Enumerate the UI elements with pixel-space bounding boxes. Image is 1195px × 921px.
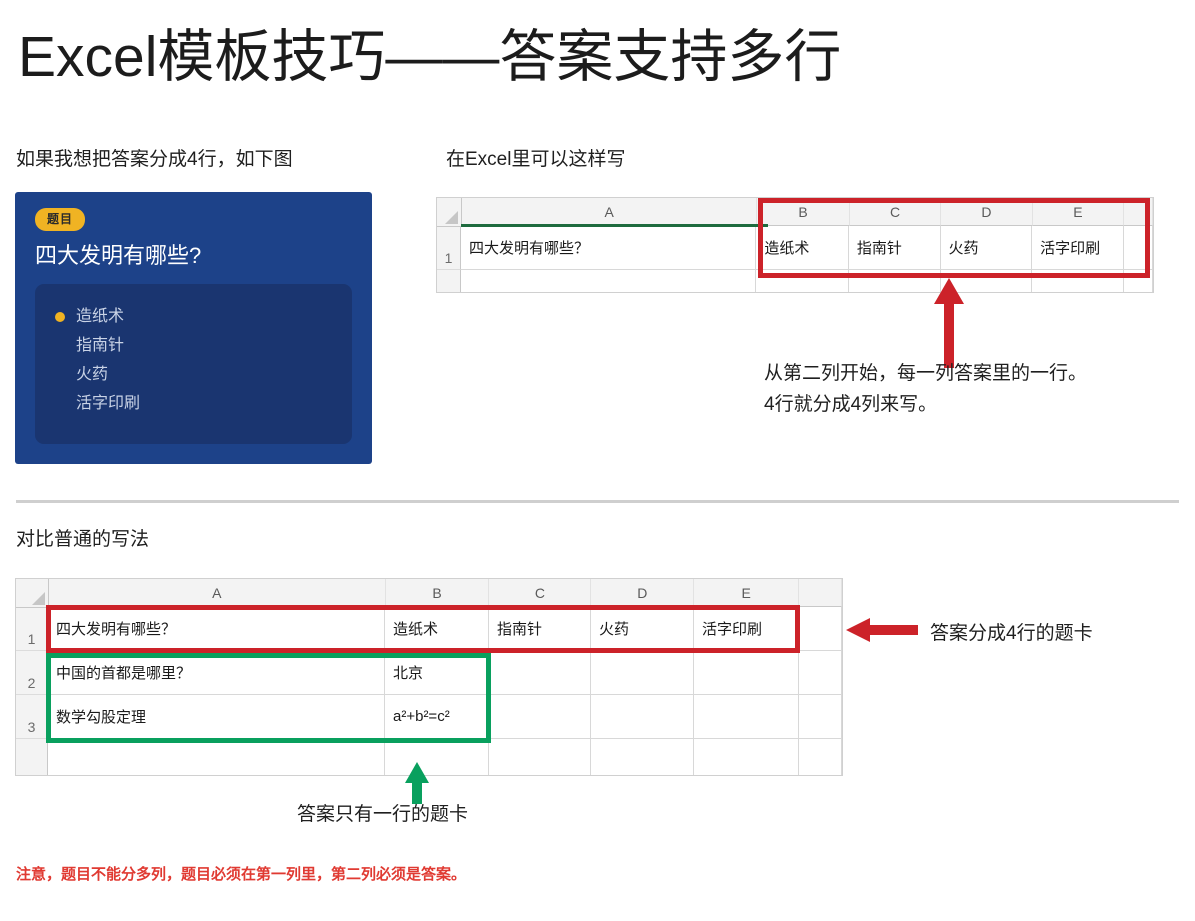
cell-f1[interactable] (799, 607, 842, 651)
cell-e1[interactable]: 活字印刷 (694, 607, 799, 651)
cell-b2[interactable]: 北京 (385, 651, 489, 695)
answer-item-1: 造纸术 (55, 302, 332, 331)
answer-label: 造纸术 (76, 302, 124, 331)
select-all-corner[interactable] (437, 198, 462, 227)
answer-label: 火药 (76, 360, 108, 389)
column-header-b[interactable]: B (757, 198, 849, 226)
cell-a2[interactable] (461, 270, 756, 293)
cell-d3[interactable] (591, 695, 694, 739)
right-section-caption: 在Excel里可以这样写 (446, 147, 625, 173)
cell-d1[interactable]: 火药 (591, 607, 694, 651)
column-header-e[interactable]: E (1033, 198, 1124, 226)
annotation-singlerow-card: 答案只有一行的题卡 (297, 799, 468, 830)
table-row[interactable]: 1 四大发明有哪些？ 造纸术 指南针 火药 活字印刷 (16, 607, 842, 651)
answer-label: 活字印刷 (76, 389, 140, 418)
cell-c4[interactable] (489, 739, 591, 776)
excel-sheet-multirow[interactable]: A B C D E 1 四大发明有哪些？ 造纸术 指南针 火药 活字印刷 2 (436, 197, 1154, 293)
cell-b3[interactable]: a²+b²=c² (385, 695, 489, 739)
table-row[interactable]: 2 (437, 270, 1153, 293)
row-header-3[interactable]: 3 (16, 695, 48, 739)
cell-f4[interactable] (799, 739, 842, 776)
column-header-b[interactable]: B (386, 579, 490, 607)
column-header-e[interactable]: E (694, 579, 799, 607)
row-header-1[interactable]: 1 (16, 607, 48, 651)
cell-e2[interactable] (1032, 270, 1124, 293)
answer-label: 指南针 (76, 331, 124, 360)
answer-item-2: 指南针 (55, 331, 332, 360)
left-section-caption: 如果我想把答案分成4行，如下图 (16, 147, 293, 173)
cell-c3[interactable] (489, 695, 591, 739)
column-header-f[interactable] (1124, 198, 1153, 226)
cell-d1[interactable]: 火药 (941, 226, 1033, 270)
table-row[interactable]: 3 数学勾股定理 a²+b²=c² (16, 695, 842, 739)
cell-c1[interactable]: 指南针 (489, 607, 591, 651)
cell-a1[interactable]: 四大发明有哪些？ (461, 226, 756, 270)
cell-e1[interactable]: 活字印刷 (1032, 226, 1124, 270)
column-header-a[interactable]: A (462, 198, 757, 226)
red-arrow-left-icon (846, 617, 918, 643)
cell-e4[interactable] (694, 739, 799, 776)
cell-d2[interactable] (591, 651, 694, 695)
cell-f2[interactable] (799, 651, 842, 695)
column-header-f[interactable] (799, 579, 842, 607)
cell-d4[interactable] (591, 739, 694, 776)
question-badge: 题目 (35, 208, 85, 231)
row-header-2[interactable]: 2 (16, 651, 48, 695)
cell-c1[interactable]: 指南针 (849, 226, 941, 270)
cell-b4[interactable] (385, 739, 489, 776)
answer-item-4: 活字印刷 (55, 389, 332, 418)
cell-c2[interactable] (849, 270, 941, 293)
cell-a3[interactable]: 数学勾股定理 (48, 695, 385, 739)
excel-column-header-row: A B C D E (437, 198, 1153, 226)
cell-f1[interactable] (1124, 226, 1153, 270)
annotation-multirow-card: 答案分成4行的题卡 (930, 618, 1093, 649)
column-header-d[interactable]: D (591, 579, 694, 607)
cell-f3[interactable] (799, 695, 842, 739)
red-arrow-up-icon (932, 278, 966, 368)
cell-a4[interactable] (48, 739, 385, 776)
compare-section-caption: 对比普通的写法 (16, 527, 149, 553)
quiz-answer-panel: 造纸术 指南针 火药 活字印刷 (35, 284, 352, 444)
cell-b2[interactable] (756, 270, 849, 293)
warning-text: 注意，题目不能分多列，题目必须在第一列里，第二列必须是答案。 (16, 863, 466, 884)
quiz-question-text: 四大发明有哪些? (35, 241, 352, 271)
excel-column-header-row: A B C D E (16, 579, 842, 607)
select-all-corner[interactable] (16, 579, 49, 608)
row-header-2[interactable]: 2 (437, 270, 461, 293)
excel-sheet-comparison[interactable]: A B C D E 1 四大发明有哪些？ 造纸术 指南针 火药 活字印刷 2 中… (15, 578, 843, 776)
cell-b1[interactable]: 造纸术 (756, 226, 849, 270)
column-header-d[interactable]: D (941, 198, 1032, 226)
column-header-c[interactable]: C (850, 198, 941, 226)
bullet-dot-icon (55, 312, 65, 322)
quiz-card: 题目 四大发明有哪些? 造纸术 指南针 火药 活字印刷 (15, 192, 372, 464)
table-row[interactable]: 1 四大发明有哪些？ 造纸术 指南针 火药 活字印刷 (437, 226, 1153, 270)
section-divider (16, 500, 1179, 503)
cell-e3[interactable] (694, 695, 799, 739)
column-header-a[interactable]: A (49, 579, 386, 607)
column-header-c[interactable]: C (489, 579, 591, 607)
page-title: Excel模板技巧——答案支持多行 (18, 22, 841, 92)
cell-b1[interactable]: 造纸术 (385, 607, 489, 651)
cell-f2[interactable] (1124, 270, 1153, 293)
annotation-multirow-line1: 从第二列开始，每一列答案里的一行。 (764, 358, 1087, 389)
row-header-1[interactable]: 1 (437, 226, 461, 270)
cell-c2[interactable] (489, 651, 591, 695)
row-header-4[interactable] (16, 739, 48, 776)
column-a-selection-underline (461, 224, 768, 227)
annotation-multirow: 从第二列开始，每一列答案里的一行。 4行就分成4列来写。 (764, 358, 1087, 420)
table-row[interactable]: 2 中国的首都是哪里？ 北京 (16, 651, 842, 695)
green-arrow-up-icon (404, 762, 430, 804)
cell-a1[interactable]: 四大发明有哪些？ (48, 607, 385, 651)
cell-e2[interactable] (694, 651, 799, 695)
cell-a2[interactable]: 中国的首都是哪里？ (48, 651, 385, 695)
annotation-multirow-line2: 4行就分成4列来写。 (764, 389, 1087, 420)
answer-item-3: 火药 (55, 360, 332, 389)
